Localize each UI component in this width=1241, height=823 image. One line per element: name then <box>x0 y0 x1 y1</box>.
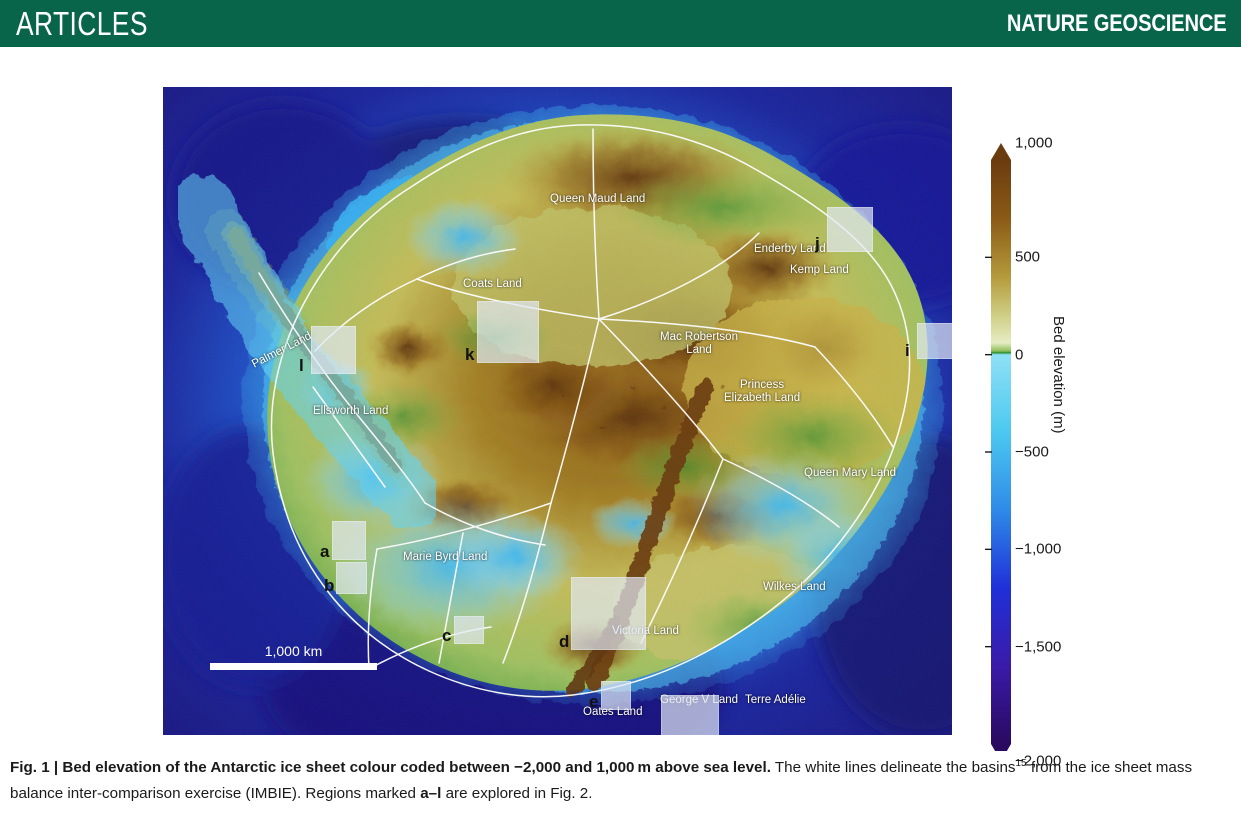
colorbar: 1,0005000−500−1,000−1,500−2,000 Bed elev… <box>981 111 1101 751</box>
inset-box-f[interactable] <box>661 695 719 735</box>
colorbar-tick-label-0: 0 <box>1015 346 1023 363</box>
figure-caption: Fig. 1 | Bed elevation of the Antarctic … <box>10 755 1232 807</box>
section-label: ARTICLES <box>16 5 148 43</box>
figure-1: Palmer LandEllsworth LandMarie Byrd Land… <box>0 47 1241 747</box>
colorbar-tick-label--1000: −1,000 <box>1015 541 1061 558</box>
antarctica-bed-elevation-map: Palmer LandEllsworth LandMarie Byrd Land… <box>163 87 952 735</box>
inset-box-l[interactable] <box>311 326 356 374</box>
inset-label-b: b <box>324 577 334 594</box>
inset-box-j[interactable] <box>827 207 873 252</box>
inset-label-d: d <box>559 633 569 650</box>
inset-label-i: i <box>905 342 910 359</box>
running-head-banner: ARTICLES NATURE GEOSCIENCE <box>0 0 1241 47</box>
colorbar-tick-label--500: −500 <box>1015 444 1049 461</box>
colorbar-tick-label--1500: −1,500 <box>1015 638 1061 655</box>
colorbar-tick-label-1000: 1,000 <box>1015 135 1053 152</box>
caption-region-range: a–l <box>420 785 441 802</box>
caption-reference: 15 <box>1016 758 1027 769</box>
inset-label-j: j <box>815 235 820 252</box>
caption-bold-lead: Bed elevation of the Antarctic ice sheet… <box>62 759 771 776</box>
map-raster <box>163 87 952 735</box>
inset-label-l: l <box>299 357 304 374</box>
caption-text-c: are explored in Fig. 2. <box>441 785 592 802</box>
scale-bar-label: 1,000 km <box>210 643 377 659</box>
inset-box-i[interactable] <box>917 323 952 359</box>
inset-label-e: e <box>589 693 598 710</box>
caption-figure-number: Fig. 1 | <box>10 759 58 776</box>
inset-box-c[interactable] <box>454 616 484 644</box>
inset-box-e[interactable] <box>601 681 631 710</box>
scale-bar: 1,000 km <box>210 643 377 670</box>
journal-name: NATURE GEOSCIENCE <box>1007 10 1227 38</box>
inset-box-d[interactable] <box>571 577 646 650</box>
inset-box-b[interactable] <box>336 562 367 594</box>
inset-label-c: c <box>442 627 451 644</box>
inset-label-a: a <box>320 543 329 560</box>
scale-bar-line <box>210 663 377 670</box>
colorbar-tick-label-500: 500 <box>1015 249 1040 266</box>
inset-box-a[interactable] <box>332 521 366 560</box>
inset-box-k[interactable] <box>477 301 539 363</box>
caption-text-a: The white lines delineate the basins <box>771 759 1016 776</box>
colorbar-title: Bed elevation (m) <box>1050 316 1067 434</box>
inset-label-k: k <box>465 346 474 363</box>
